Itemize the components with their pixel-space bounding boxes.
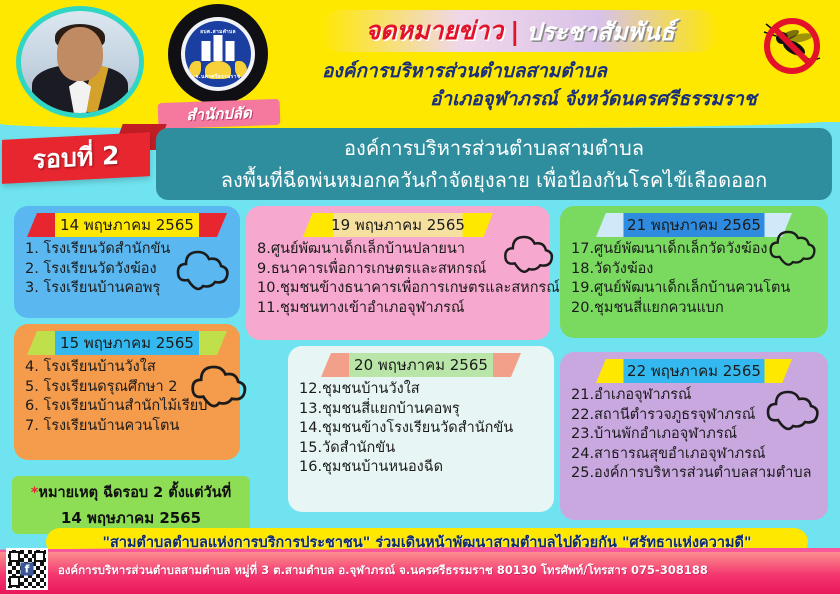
card-date-header: 21 พฤษภาคม 2565 <box>596 213 792 237</box>
list-item: 20.ชุมชนสี่แยกควนแบก <box>571 299 819 319</box>
card-date-label: 14 พฤษภาคม 2565 <box>60 213 194 237</box>
footer-contact-text: องค์การบริหารส่วนตำบลสามตำบล หมู่ที่ 3 ต… <box>58 562 836 580</box>
card-date-label: 20 พฤษภาคม 2565 <box>354 353 488 377</box>
list-item: 1. โรงเรียนวัดสำนักขัน <box>25 240 231 260</box>
card-date-label: 21 พฤษภาคม 2565 <box>627 213 761 237</box>
schedule-card: 15 พฤษภาคม 2565 4. โรงเรียนบ้านวังใส 5. … <box>14 324 240 460</box>
list-item: 18.วัดวังฆ้อง <box>571 260 819 280</box>
card-date-header: 22 พฤษภาคม 2565 <box>596 359 792 383</box>
card-date-header: 14 พฤษภาคม 2565 <box>27 213 227 237</box>
list-item: 16.ชุมชนบ้านหนองฉีด <box>299 458 545 478</box>
card-date-header: 15 พฤษภาคม 2565 <box>27 331 227 355</box>
card-date-label: 15 พฤษภาคม 2565 <box>60 331 194 355</box>
poster-root: อบต.สามตำบล จ.นครศรีธรรมราช สำนักปลัด จด… <box>0 0 840 594</box>
title-sub: ประชาสัมพันธ์ <box>526 12 674 51</box>
page-title: จดหมายข่าว | ประชาสัมพันธ์ <box>320 10 720 52</box>
schedule-card: 22 พฤษภาคม 2565 21.อำเภอจุฬาภรณ์ 22.สถาน… <box>560 352 828 520</box>
list-item: 19.ศูนย์พัฒนาเด็กเล็กบ้านควนโตน <box>571 279 819 299</box>
list-item: 12.ชุมชนบ้านวังใส <box>299 380 545 400</box>
seal-bottom-text: จ.นครศรีธรรมราช <box>185 73 251 81</box>
list-item: 10.ชุมชนข้างธนาคารเพื่อการเกษตรและสหกรณ์ <box>257 279 541 299</box>
no-mosquito-icon <box>758 12 826 80</box>
list-item: 8.ศูนย์พัฒนาเด็กเล็กบ้านปลายนา <box>257 240 541 260</box>
title-main: จดหมายข่าว <box>366 11 504 51</box>
banner-line-1: องค์การบริหารส่วนตำบลสามตำบล <box>344 132 644 164</box>
organization-line-1: องค์การบริหารส่วนตำบลสามตำบล <box>322 56 607 86</box>
list-item: 17.ศูนย์พัฒนาเด็กเล็กวัดวังฆ้อง <box>571 240 819 260</box>
card-location-list: 12.ชุมชนบ้านวังใส 13.ชุมชนสี่แยกบ้านคอพร… <box>288 380 554 484</box>
list-item: 22.สถานีตำรวจภูธรจุฬาภรณ์ <box>571 406 819 426</box>
schedule-card: 14 พฤษภาคม 2565 1. โรงเรียนวัดสำนักขัน 2… <box>14 206 240 318</box>
list-item: 23.บ้านพักอำเภอจุฬาภรณ์ <box>571 425 819 445</box>
list-item: 15.วัดสำนักขัน <box>299 439 545 459</box>
executive-portrait <box>16 6 144 118</box>
card-date-label: 19 พฤษภาคม 2565 <box>331 213 465 237</box>
remark-line-1: *หมายเหตุ ฉีดรอบ 2 ตั้งแต่วันที่ <box>31 481 231 504</box>
remark-note: *หมายเหตุ ฉีดรอบ 2 ตั้งแต่วันที่ 14 พฤษภ… <box>12 476 250 534</box>
card-date-header: 19 พฤษภาคม 2565 <box>303 213 493 237</box>
organization-line-2: อำเภอจุฬาภรณ์ จังหวัดนครศรีธรรมราช <box>430 84 757 114</box>
card-location-list: 17.ศูนย์พัฒนาเด็กเล็กวัดวังฆ้อง 18.วัดวั… <box>560 240 828 324</box>
card-date-header: 20 พฤษภาคม 2565 <box>321 353 521 377</box>
remark-text: หมายเหตุ ฉีดรอบ 2 ตั้งแต่วันที่ <box>38 485 231 501</box>
list-item: 4. โรงเรียนบ้านวังใส <box>25 358 231 378</box>
list-item: 24.สาธารณสุขอำเภอจุฬาภรณ์ <box>571 445 819 465</box>
campaign-banner: รอบที่ 2 องค์การบริหารส่วนตำบลสามตำบล ลง… <box>0 122 840 206</box>
facebook-glyph: f <box>21 563 34 576</box>
round-number-badge: รอบที่ 2 <box>2 132 150 184</box>
banner-message-box: องค์การบริหารส่วนตำบลสามตำบล ลงพื้นที่ฉี… <box>156 128 832 200</box>
schedule-card: 21 พฤษภาคม 2565 17.ศูนย์พัฒนาเด็กเล็กวัด… <box>560 206 828 338</box>
list-item: 2. โรงเรียนวัดวังฆ้อง <box>25 260 231 280</box>
list-item: 13.ชุมชนสี่แยกบ้านคอพรุ <box>299 400 545 420</box>
card-location-list: 4. โรงเรียนบ้านวังใส 5. โรงเรียนดรุณศึกษ… <box>14 358 240 442</box>
list-item: 9.ธนาคารเพื่อการเกษตรและสหกรณ์ <box>257 260 541 280</box>
header-banner: อบต.สามตำบล จ.นครศรีธรรมราช สำนักปลัด จด… <box>0 0 840 122</box>
qr-code-facebook-icon[interactable]: f <box>6 548 48 590</box>
banner-line-2: ลงพื้นที่ฉีดพ่นหมอกควันกำจัดยุงลาย เพื่อ… <box>221 164 768 196</box>
list-item: 21.อำเภอจุฬาภรณ์ <box>571 386 819 406</box>
list-item: 7. โรงเรียนบ้านควนโตน <box>25 417 231 437</box>
schedule-card: 19 พฤษภาคม 2565 8.ศูนย์พัฒนาเด็กเล็กบ้าน… <box>246 206 550 340</box>
official-seal-icon: อบต.สามตำบล จ.นครศรีธรรมราช <box>168 4 268 104</box>
schedule-card: 20 พฤษภาคม 2565 12.ชุมชนบ้านวังใส 13.ชุม… <box>288 346 554 512</box>
list-item: 14.ชุมชนข้างโรงเรียนวัดสำนักขัน <box>299 419 545 439</box>
card-location-list: 8.ศูนย์พัฒนาเด็กเล็กบ้านปลายนา 9.ธนาคารเ… <box>246 240 550 324</box>
list-item: 3. โรงเรียนบ้านคอพรุ <box>25 279 231 299</box>
list-item: 6. โรงเรียนบ้านสำนักไม้เรียบ <box>25 397 231 417</box>
card-location-list: 1. โรงเรียนวัดสำนักขัน 2. โรงเรียนวัดวัง… <box>14 240 240 305</box>
card-date-label: 22 พฤษภาคม 2565 <box>627 359 761 383</box>
list-item: 25.องค์การบริหารส่วนตำบลสามตำบล <box>571 464 819 484</box>
remark-line-2: 14 พฤษภาคม 2565 <box>61 506 201 530</box>
list-item: 11.ชุมชนทางเข้าอำเภอจุฬาภรณ์ <box>257 299 541 319</box>
title-divider: | <box>510 17 519 46</box>
card-location-list: 21.อำเภอจุฬาภรณ์ 22.สถานีตำรวจภูธรจุฬาภร… <box>560 386 828 490</box>
list-item: 5. โรงเรียนดรุณศึกษา 2 <box>25 378 231 398</box>
